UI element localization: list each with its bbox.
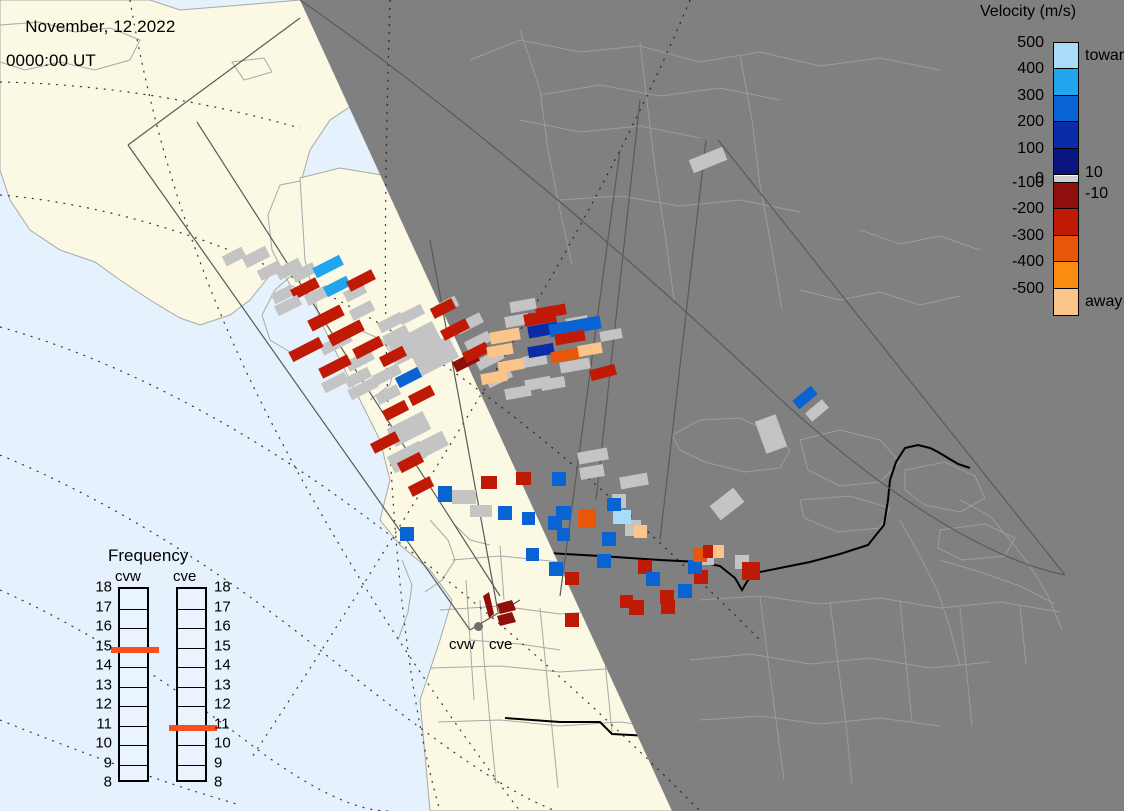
colorbar-away-label: away — [1085, 293, 1122, 311]
frequency-tick — [178, 628, 205, 629]
velocity-cell[interactable] — [565, 613, 579, 627]
frequency-scale-value: 17 — [86, 598, 112, 615]
velocity-cell[interactable] — [629, 600, 644, 615]
station-label-cve[interactable]: cve — [489, 636, 512, 653]
frequency-scale-value: 13 — [214, 676, 231, 693]
colorbar-segment — [1054, 289, 1078, 315]
velocity-cell[interactable] — [552, 472, 566, 486]
radar-site-marker[interactable] — [474, 622, 483, 631]
frequency-scale-value: 10 — [214, 735, 231, 752]
frequency-tick — [120, 745, 147, 746]
colorbar-tick-label: 300 — [1017, 87, 1044, 105]
colorbar-segment — [1054, 149, 1078, 175]
frequency-tick — [178, 745, 205, 746]
frequency-tick — [120, 687, 147, 688]
velocity-cell[interactable] — [678, 584, 692, 598]
title-block: November, 12 2022 0000:00 UT — [6, 1, 175, 103]
frequency-tick — [178, 765, 205, 766]
velocity-cell[interactable] — [556, 506, 571, 520]
frequency-bar-cvw[interactable] — [118, 587, 149, 782]
frequency-scale-value: 15 — [86, 637, 112, 654]
velocity-cell[interactable] — [516, 472, 531, 485]
colorbar-tick-label: 100 — [1017, 140, 1044, 158]
colorbar-segment — [1054, 262, 1078, 288]
radar-velocity-map: November, 12 2022 0000:00 UT Velocity (m… — [0, 0, 1124, 811]
colorbar-title: Velocity (m/s) — [980, 3, 1076, 21]
velocity-cell[interactable] — [526, 548, 539, 561]
colorbar-tick-label: -500 — [1012, 280, 1044, 298]
frequency-column-label: cve — [173, 568, 196, 585]
frequency-tick — [120, 765, 147, 766]
frequency-scale-value: 14 — [214, 657, 231, 674]
velocity-cell[interactable] — [742, 562, 760, 580]
colorbar-toward-label: toward — [1085, 47, 1124, 65]
velocity-cell[interactable] — [602, 532, 616, 546]
colorbar-plus-ten-label: 10 — [1085, 164, 1103, 182]
colorbar-tick-label: -100 — [1012, 174, 1044, 192]
colorbar-gradient[interactable] — [1053, 42, 1079, 316]
ground-scatter-cell — [470, 505, 492, 517]
frequency-scale-value: 12 — [214, 696, 231, 713]
ground-scatter-cell — [452, 490, 476, 504]
colorbar-tick-label: -300 — [1012, 227, 1044, 245]
colorbar-segment — [1054, 236, 1078, 262]
velocity-cell[interactable] — [498, 506, 512, 520]
frequency-tick — [178, 609, 205, 610]
colorbar-tick-label: 500 — [1017, 34, 1044, 52]
frequency-marker-cvw — [111, 647, 159, 653]
velocity-cell[interactable] — [638, 560, 652, 574]
frequency-tick — [178, 687, 205, 688]
colorbar-tick-label: 400 — [1017, 60, 1044, 78]
frequency-legend[interactable]: Frequency cvw18171615141312111098cve1817… — [88, 546, 243, 786]
velocity-cell[interactable] — [613, 510, 631, 524]
frequency-marker-cve — [169, 725, 217, 731]
frequency-scale-value: 16 — [214, 618, 231, 635]
velocity-cell[interactable] — [438, 486, 452, 502]
frequency-scale-value: 15 — [214, 637, 231, 654]
colorbar-zero-band — [1054, 175, 1078, 183]
velocity-cell[interactable] — [661, 600, 675, 614]
colorbar-segment — [1054, 122, 1078, 148]
frequency-scale-value: 14 — [86, 657, 112, 674]
velocity-cell[interactable] — [607, 498, 621, 511]
frequency-scale-value: 18 — [86, 579, 112, 596]
velocity-cell[interactable] — [597, 554, 611, 568]
velocity-cell[interactable] — [400, 527, 414, 541]
frequency-scale-value: 16 — [86, 618, 112, 635]
colorbar-tick-label: 200 — [1017, 113, 1044, 131]
station-label-cvw[interactable]: cvw — [449, 636, 475, 653]
colorbar-tick-label: -400 — [1012, 253, 1044, 271]
map-time: 0000:00 UT — [6, 52, 175, 69]
colorbar-segment — [1054, 43, 1078, 69]
frequency-legend-title: Frequency — [108, 546, 188, 566]
frequency-scale-value: 12 — [86, 696, 112, 713]
velocity-cell[interactable] — [688, 560, 702, 574]
frequency-tick — [120, 706, 147, 707]
velocity-cell[interactable] — [646, 572, 660, 586]
velocity-colorbar[interactable]: Velocity (m/s) 5004003002001000-100-200-… — [975, 0, 1124, 340]
colorbar-segment — [1054, 96, 1078, 122]
frequency-column-label: cvw — [115, 568, 141, 585]
velocity-cell[interactable] — [578, 509, 596, 528]
map-date: November, 12 2022 — [25, 17, 175, 36]
velocity-cell[interactable] — [522, 512, 535, 525]
frequency-scale-value: 17 — [214, 598, 231, 615]
frequency-scale-value: 8 — [214, 774, 222, 791]
colorbar-tick-label: -200 — [1012, 200, 1044, 218]
frequency-tick — [120, 628, 147, 629]
frequency-tick — [120, 726, 147, 727]
frequency-tick — [178, 648, 205, 649]
velocity-cell[interactable] — [565, 572, 579, 585]
velocity-cell[interactable] — [557, 528, 570, 541]
frequency-scale-value: 18 — [214, 579, 231, 596]
frequency-scale-value: 9 — [86, 754, 112, 771]
frequency-tick — [120, 667, 147, 668]
velocity-cell[interactable] — [549, 562, 563, 576]
velocity-cell[interactable] — [634, 525, 647, 538]
frequency-bar-cve[interactable] — [176, 587, 207, 782]
colorbar-segment — [1054, 183, 1078, 209]
frequency-scale-value: 10 — [86, 735, 112, 752]
frequency-tick — [178, 706, 205, 707]
frequency-scale-value: 9 — [214, 754, 222, 771]
colorbar-segment — [1054, 69, 1078, 95]
frequency-tick — [178, 667, 205, 668]
frequency-scale-value: 13 — [86, 676, 112, 693]
frequency-scale-value: 8 — [86, 774, 112, 791]
colorbar-segment — [1054, 209, 1078, 235]
frequency-scale-value: 11 — [214, 715, 230, 732]
colorbar-minus-ten-label: -10 — [1085, 185, 1108, 203]
frequency-scale-value: 11 — [86, 715, 112, 732]
frequency-tick — [120, 609, 147, 610]
velocity-cell[interactable] — [703, 545, 713, 558]
velocity-cell[interactable] — [481, 476, 497, 489]
